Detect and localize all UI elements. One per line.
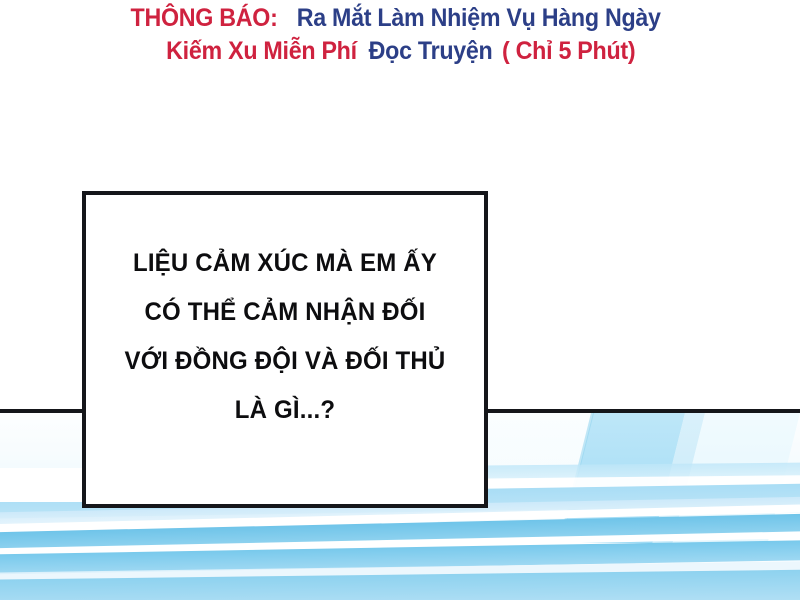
announcement-line2-blue: Đọc Truyện	[369, 35, 493, 68]
speech-line-2: CÓ THỂ CẢM NHẬN ĐỐI	[94, 288, 476, 337]
comic-page: THÔNG BÁO: Ra Mắt Làm Nhiệm Vụ Hàng Ngày…	[0, 0, 800, 600]
announcement-line1-blue: Ra Mắt Làm Nhiệm Vụ Hàng Ngày	[297, 2, 661, 35]
announcement-banner: THÔNG BÁO: Ra Mắt Làm Nhiệm Vụ Hàng Ngày…	[0, 2, 800, 68]
speech-line-3: VỚI ĐỒNG ĐỘI VÀ ĐỐI THỦ	[94, 337, 476, 386]
announcement-line-1: THÔNG BÁO: Ra Mắt Làm Nhiệm Vụ Hàng Ngày	[0, 2, 800, 35]
speech-bubble: LIỆU CẢM XÚC MÀ EM ẤY CÓ THỂ CẢM NHẬN ĐỐ…	[82, 191, 488, 508]
speech-line-1: LIỆU CẢM XÚC MÀ EM ẤY	[94, 239, 476, 288]
speech-bubble-text: LIỆU CẢM XÚC MÀ EM ẤY CÓ THỂ CẢM NHẬN ĐỐ…	[86, 239, 484, 461]
announcement-line1-red: THÔNG BÁO:	[131, 2, 278, 35]
speech-line-4: LÀ GÌ...?	[94, 386, 476, 435]
announcement-line-2: Kiếm Xu Miễn Phí Đọc Truyện ( Chỉ 5 Phút…	[0, 35, 800, 68]
announcement-line2-red-suffix: ( Chỉ 5 Phút)	[502, 35, 635, 68]
announcement-line2-red-prefix: Kiếm Xu Miễn Phí	[166, 35, 357, 68]
